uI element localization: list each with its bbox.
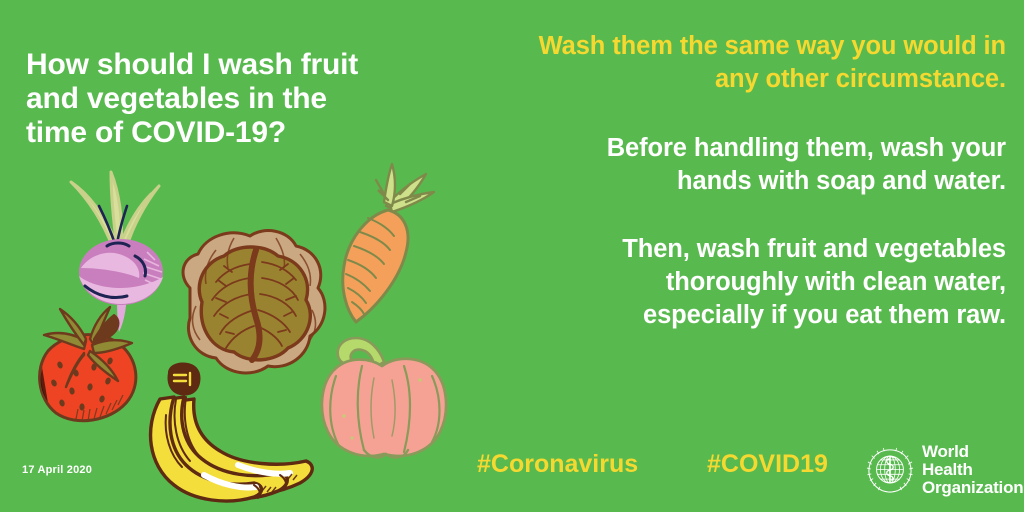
advice-paragraph-1: Before handling them, wash your hands wi… — [470, 132, 1006, 198]
hashtag-coronavirus[interactable]: #Coronavirus — [477, 450, 638, 479]
who-logo: World Health Organization — [866, 443, 1024, 497]
advice-paragraph-2: Then, wash fruit and vegetables thorough… — [470, 233, 1006, 332]
produce-illustration-group — [0, 150, 470, 512]
who-infographic-poster: How should I wash fruit and vegetables i… — [0, 0, 1024, 512]
lead-statement: Wash them the same way you would in any … — [470, 30, 1006, 96]
who-wordmark: World Health Organization — [922, 443, 1024, 497]
page-title: How should I wash fruit and vegetables i… — [26, 48, 456, 151]
hashtag-covid19[interactable]: #COVID19 — [707, 450, 828, 479]
carrot-illustration — [330, 160, 455, 335]
bell-pepper-illustration — [300, 320, 465, 465]
who-emblem-icon — [866, 446, 914, 494]
body-text-column: Wash them the same way you would in any … — [470, 30, 1006, 332]
